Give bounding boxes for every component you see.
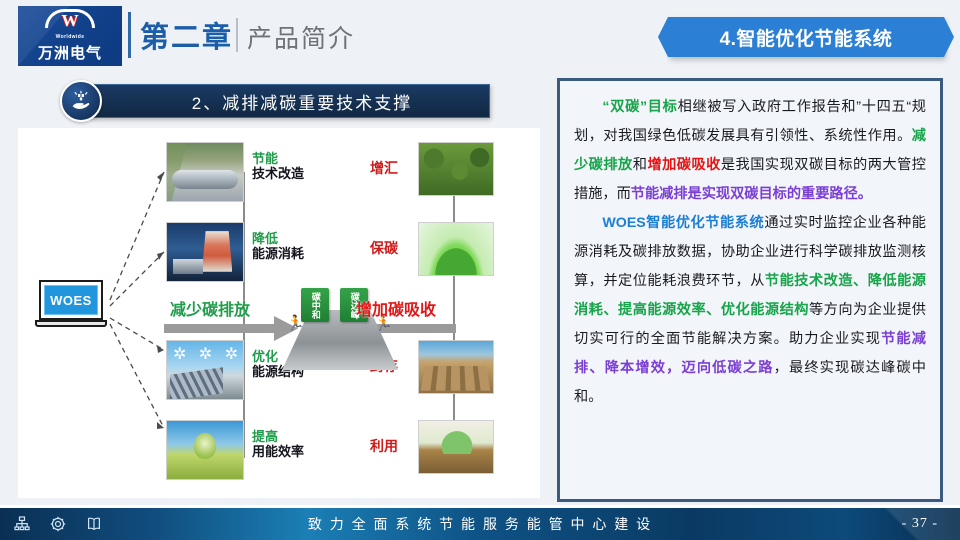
section-title-label: 2、减排减碳重要技术支撑 — [168, 89, 412, 114]
green-globe-photo — [419, 223, 493, 275]
section-title-bar: 2、减排减碳重要技术支撑 — [90, 84, 490, 118]
label-line1: 利用 — [370, 438, 398, 454]
reduce-emission-arrow-label: 减少碳排放 — [170, 296, 250, 320]
p1-seg1: “双碳”目标 — [602, 99, 677, 115]
hand-care-icon — [60, 80, 102, 122]
industrial-pipes-photo — [167, 143, 243, 201]
label-line2: 能源消耗 — [252, 247, 304, 262]
label-increase-sink: 增汇 — [370, 160, 398, 176]
topic-badge: 4.智能优化节能系统 — [668, 17, 944, 57]
paragraph-2: WOES智能优化节能系统通过实时监控企业各种能源消耗及碳排放数据，协助企业进行科… — [574, 209, 926, 412]
page-title: 产品简介 — [247, 19, 355, 55]
wind-solar-photo — [167, 341, 243, 399]
woes-laptop-node: WOES — [35, 280, 107, 334]
label-line2: 技术改造 — [252, 167, 304, 182]
thumb-preserve-carbon — [418, 222, 494, 276]
thumb-reduce-consumption — [166, 222, 244, 282]
laptop-base — [35, 320, 107, 327]
thumb-improve-efficiency — [166, 420, 244, 480]
logo-w-letter: W — [42, 11, 98, 31]
label-carbon-utilization: 利用 — [370, 438, 398, 454]
label-energy-retrofit: 节能 技术改造 — [252, 152, 304, 182]
thumb-energy-retrofit — [166, 142, 244, 202]
carbon-neutral-block: 碳中和 — [301, 288, 329, 322]
title-separator — [236, 18, 238, 52]
label-reduce-consumption: 降低 能源消耗 — [252, 232, 304, 262]
description-panel: “双碳”目标相继被写入政府工作报告和”十四五“规划，对我国绿色低碳发展具有引领性… — [557, 78, 943, 502]
logo-w-mark: W — [42, 9, 98, 33]
label-preserve-carbon: 保碳 — [370, 240, 398, 256]
laptop-lid: WOES — [39, 280, 103, 320]
label-line2: 用能效率 — [252, 445, 304, 460]
page-footer: 致 力 全 面 系 统 节 能 服 务 能 管 中 心 建 设 - 37 - — [0, 508, 960, 540]
page-number: - 37 - — [902, 508, 938, 540]
label-line1: 保碳 — [370, 240, 398, 256]
page-header: W Worldwide 万洲电气 第二章 产品简介 4.智能优化节能系统 — [0, 0, 960, 72]
carbon-strategy-diagram: 节能 技术改造 降低 能源消耗 优化 能源结构 提高 用能效率 增汇 保碳 封存 — [18, 128, 540, 498]
laptop-screen: WOES — [44, 285, 98, 315]
label-line1: 增汇 — [370, 160, 398, 176]
logo-company-name: 万洲电气 — [38, 42, 102, 63]
company-logo: W Worldwide 万洲电气 — [18, 6, 122, 66]
header-left-rule — [128, 12, 131, 58]
label-line1: 降低 — [252, 232, 304, 247]
eco-lightbulb-photo — [167, 421, 243, 479]
chapter-title: 第二章 — [140, 14, 233, 56]
label-line1: 节能 — [252, 152, 304, 167]
increase-absorption-arrow-label: 增加碳吸收 — [356, 296, 436, 320]
p1-seg4: 和 — [633, 157, 648, 173]
carbon-storage-photo — [419, 341, 493, 393]
p2-seg1: WOES智能优化节能系统 — [602, 215, 764, 231]
logo-worldwide-text: Worldwide — [56, 34, 85, 40]
thumb-carbon-storage — [418, 340, 494, 394]
thumb-increase-sink — [418, 142, 494, 196]
thumb-carbon-utilization — [418, 420, 494, 474]
thumb-optimize-structure — [166, 340, 244, 400]
p1-seg5: 增加碳吸收 — [647, 157, 720, 173]
label-line1: 提高 — [252, 430, 304, 445]
woes-label: WOES — [50, 293, 92, 308]
topic-badge-label: 4.智能优化节能系统 — [720, 24, 893, 51]
footer-slogan: 致 力 全 面 系 统 节 能 服 务 能 管 中 心 建 设 — [0, 508, 960, 540]
p1-seg7: 节能减排是实现双碳目标的重要路径。 — [631, 186, 872, 202]
label-improve-efficiency: 提高 用能效率 — [252, 430, 304, 460]
paragraph-1: “双碳”目标相继被写入政府工作报告和”十四五“规划，对我国绿色低碳发展具有引领性… — [574, 93, 926, 209]
carbon-neutral-label: 碳中和 — [310, 292, 319, 319]
forest-photo — [419, 143, 493, 195]
carbon-utilization-photo — [419, 421, 493, 473]
cooling-tower-photo — [167, 223, 243, 281]
